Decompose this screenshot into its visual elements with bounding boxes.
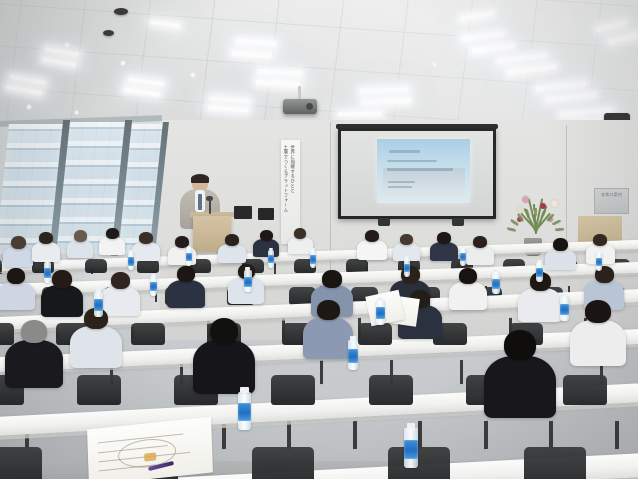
seminar-chair <box>271 375 315 405</box>
water-bottle <box>310 250 316 268</box>
flower-bloom <box>522 196 529 203</box>
water-bottle <box>238 392 251 430</box>
attendee-body <box>132 242 160 261</box>
projector-mount-pole <box>298 86 301 100</box>
bottle-label <box>186 253 192 261</box>
water-bottle <box>492 272 500 294</box>
bottle-cap <box>537 260 541 263</box>
seminar-chair <box>358 323 392 345</box>
water-bottle <box>44 262 51 283</box>
bottle-cap <box>405 256 409 259</box>
wall-notice-text: 非常口案内 <box>595 189 628 198</box>
bottle-label <box>404 440 418 459</box>
attendee-body <box>70 326 122 368</box>
water-bottle <box>244 270 252 292</box>
bottle-cap <box>407 423 416 429</box>
bottle-label <box>376 307 385 318</box>
bottle-cap <box>493 269 498 272</box>
attendee-body <box>518 288 562 322</box>
attendee-body <box>3 247 33 267</box>
attendee-head <box>585 300 611 323</box>
water-bottle <box>348 340 358 370</box>
projection-screen-frame <box>338 128 496 219</box>
attendee-head <box>593 234 607 246</box>
attendee-head <box>39 232 53 244</box>
seminar-chair <box>369 375 413 405</box>
bottle-label <box>348 349 358 363</box>
seminar-chair <box>85 259 107 273</box>
bottle-label <box>460 253 466 261</box>
water-bottle <box>186 248 192 266</box>
bottle-cap <box>378 297 383 300</box>
slide-text-line <box>387 168 454 171</box>
table-leg <box>287 421 291 449</box>
ceiling-downlight <box>190 72 196 78</box>
attendee-body <box>253 239 279 257</box>
attendee-body <box>288 237 313 254</box>
bottle-cap <box>151 274 155 277</box>
attendee-head <box>139 232 153 244</box>
water-bottle <box>404 258 410 277</box>
attendee-head <box>365 230 379 242</box>
attendee-head <box>225 234 239 246</box>
water-bottle <box>596 252 602 271</box>
water-bottle <box>460 248 466 266</box>
bottle-label <box>150 282 157 291</box>
water-bottle <box>560 296 569 321</box>
banner-text: 世界に飛躍するひとと 土壌でつくるプラットフォーム <box>281 140 297 217</box>
attendee-head <box>322 270 342 288</box>
attendee-body <box>303 317 353 359</box>
attendee-head <box>21 320 47 343</box>
bottle-cap <box>96 289 101 292</box>
podium-microphone <box>209 200 211 214</box>
seating-area <box>0 215 638 479</box>
bottle-label <box>268 255 274 263</box>
water-bottle <box>128 252 134 270</box>
attendee-head <box>553 238 568 251</box>
water-bottle <box>404 428 418 468</box>
seminar-chair <box>563 375 607 405</box>
ceiling-downlight <box>432 62 437 67</box>
seminar-chair <box>77 375 121 405</box>
ceiling-speaker-icon <box>103 30 114 36</box>
attendee-head <box>473 236 487 248</box>
bottle-label <box>310 255 316 263</box>
attendee-body <box>99 237 125 255</box>
seminar-chair <box>388 447 450 479</box>
flower-bloom <box>551 200 558 207</box>
attendee-body <box>41 285 83 317</box>
bottle-label <box>536 268 543 277</box>
table-leg <box>353 421 357 449</box>
bottle-cap <box>240 387 248 392</box>
presenter-hair <box>191 174 209 183</box>
attendee-head <box>210 318 238 344</box>
ceiling-downlight <box>64 42 70 48</box>
bottle-cap <box>45 260 50 263</box>
attendee-head <box>74 230 87 242</box>
attendee-head <box>437 232 451 244</box>
slide-text-line <box>387 160 437 162</box>
presenter-tie <box>198 194 202 210</box>
bottle-label <box>128 257 134 265</box>
table-leg <box>615 421 619 449</box>
wall-notice-sign: 非常口案内 <box>594 188 629 214</box>
table-leg <box>320 360 323 384</box>
bottle-cap <box>350 336 357 340</box>
bottle-label <box>44 268 51 278</box>
attendee-head <box>459 268 477 284</box>
attendee-body <box>167 280 205 308</box>
attendee-body <box>570 320 626 366</box>
attendee-head <box>11 236 26 249</box>
attendee-body <box>430 242 458 261</box>
bottle-cap <box>461 246 465 248</box>
table-leg <box>418 421 422 449</box>
document-highlight <box>144 452 156 461</box>
bottle-label <box>404 264 410 273</box>
attendee-head <box>504 330 536 360</box>
attendee-body <box>449 282 487 310</box>
attendee-body <box>193 340 255 394</box>
attendee-head <box>7 268 25 284</box>
attendee-body <box>5 340 63 388</box>
bottle-cap <box>562 293 568 297</box>
table-leg <box>484 421 488 449</box>
attendee-body <box>67 240 93 258</box>
bottle-label <box>560 304 569 316</box>
water-bottle <box>268 250 274 268</box>
attendee-head <box>177 266 195 282</box>
table-leg <box>549 421 553 449</box>
flower-bloom <box>517 207 523 213</box>
water-bottle <box>94 292 103 317</box>
bottle-cap <box>597 250 601 253</box>
bottle-label <box>596 258 602 267</box>
seminar-chair <box>131 323 165 345</box>
slide-photo-area <box>383 168 465 199</box>
attendee-head <box>260 230 273 241</box>
ceiling-downlight <box>120 60 126 66</box>
water-bottle <box>536 262 543 282</box>
table-leg <box>460 360 463 384</box>
presentation-slide <box>377 139 470 204</box>
microphone-head-icon <box>206 196 213 201</box>
attendee-head <box>294 228 306 239</box>
bottle-label <box>244 277 252 287</box>
projection-screen-surface <box>341 131 493 216</box>
attendee-head <box>106 228 119 239</box>
projector-lens-icon <box>306 103 313 110</box>
attendee-head <box>400 234 413 245</box>
slide-text-line <box>389 150 421 153</box>
attendee-body <box>0 282 35 310</box>
seminar-chair <box>0 323 14 345</box>
seminar-chair <box>137 259 159 273</box>
water-bottle <box>376 300 385 325</box>
ceiling-downlight <box>26 104 32 110</box>
bottle-label <box>94 299 103 310</box>
bottle-cap <box>129 250 133 253</box>
seminar-room-photo: 世界に飛躍するひとと 土壌でつくるプラットフォーム 非常口案内 <box>0 0 638 479</box>
seminar-chair <box>252 447 314 479</box>
attendee-body <box>218 244 246 263</box>
bottle-label <box>492 279 500 289</box>
water-bottle <box>150 276 157 296</box>
bottle-cap <box>269 248 273 250</box>
attendee-head <box>317 300 340 320</box>
ceiling-downlight <box>74 110 79 115</box>
attendee-body <box>466 246 494 265</box>
bottle-cap <box>245 267 250 270</box>
bottle-cap <box>311 248 315 251</box>
slide-text-line <box>388 181 416 183</box>
attendee-body <box>484 356 556 418</box>
attendee-head <box>111 272 130 289</box>
attendee-body <box>545 249 576 270</box>
smoke-detector-icon <box>114 8 128 15</box>
seminar-chair <box>524 447 586 479</box>
attendee-head <box>52 270 72 288</box>
seminar-chair <box>0 447 42 479</box>
attendee-body <box>357 240 387 260</box>
bottle-label <box>238 403 251 420</box>
bottle-cap <box>187 246 191 248</box>
table-leg <box>274 262 276 274</box>
